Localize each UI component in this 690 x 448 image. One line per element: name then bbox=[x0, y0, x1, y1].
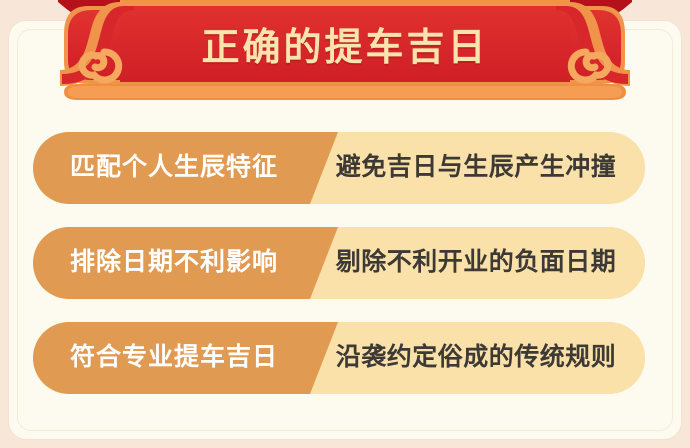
ribbon-top-highlight bbox=[120, 0, 570, 6]
feature-row-list: 匹配个人生辰特征 避免吉日与生辰产生冲撞 排除日期不利影响 剔除不利开业的负面日… bbox=[0, 132, 690, 417]
title-banner: 正确的提车吉日 bbox=[0, 0, 690, 112]
feature-row-label: 排除日期不利影响 bbox=[33, 250, 315, 277]
ribbon-base-bar-inner bbox=[68, 86, 622, 98]
feature-row-label: 匹配个人生辰特征 bbox=[33, 155, 315, 182]
poster-canvas: 正确的提车吉日 匹配个人生辰特征 避免吉日与生辰产生冲撞 排除日期不利影响 剔除… bbox=[0, 0, 690, 448]
feature-row[interactable]: 符合专业提车吉日 沿袭约定俗成的传统规则 bbox=[33, 322, 645, 394]
feature-row-desc: 剔除不利开业的负面日期 bbox=[315, 250, 645, 277]
ribbon-center-bar bbox=[120, 2, 570, 82]
feature-row[interactable]: 匹配个人生辰特征 避免吉日与生辰产生冲撞 bbox=[33, 132, 645, 204]
feature-row-desc: 避免吉日与生辰产生冲撞 bbox=[315, 155, 645, 182]
feature-row-content: 排除日期不利影响 剔除不利开业的负面日期 bbox=[33, 227, 645, 299]
title-banner-graphic bbox=[0, 0, 690, 112]
feature-row[interactable]: 排除日期不利影响 剔除不利开业的负面日期 bbox=[33, 227, 645, 299]
feature-row-content: 匹配个人生辰特征 避免吉日与生辰产生冲撞 bbox=[33, 132, 645, 204]
feature-row-desc: 沿袭约定俗成的传统规则 bbox=[315, 345, 645, 372]
feature-row-content: 符合专业提车吉日 沿袭约定俗成的传统规则 bbox=[33, 322, 645, 394]
feature-row-label: 符合专业提车吉日 bbox=[33, 345, 315, 372]
